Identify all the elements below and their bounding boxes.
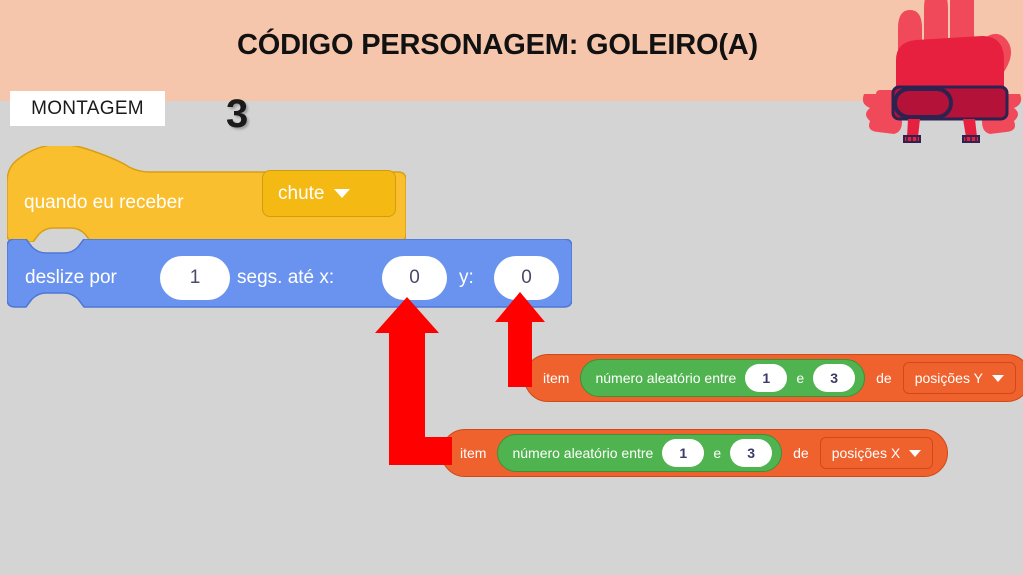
arrow-to-x-input (375, 297, 452, 465)
annotation-arrows (0, 0, 1023, 575)
arrow-to-y-input (495, 292, 545, 387)
slide-canvas: CÓDIGO PERSONAGEM: GOLEIRO(A) MONTAGEM 3 (0, 0, 1023, 575)
